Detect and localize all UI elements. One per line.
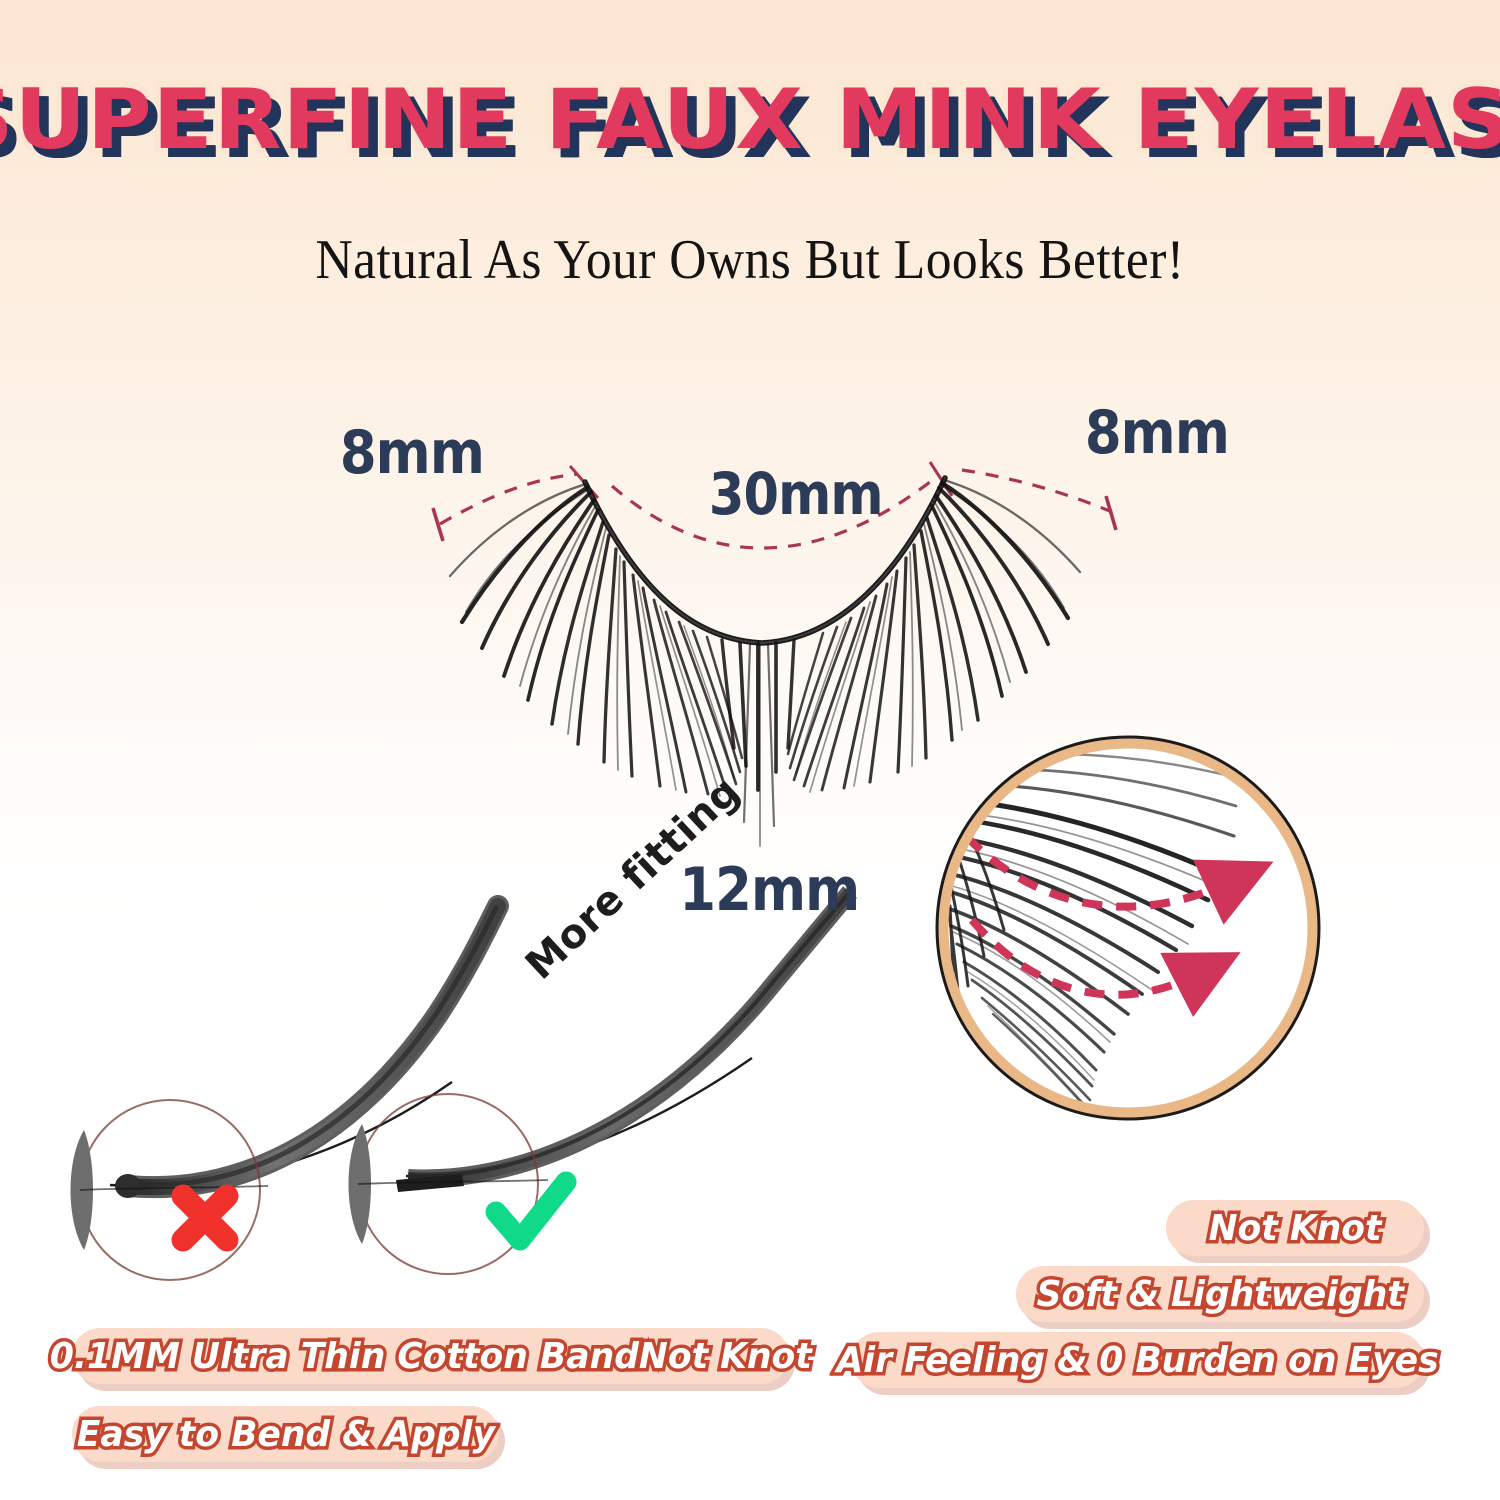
bad-reference-line: [110, 1082, 452, 1186]
badge-air-feeling-label: Air Feeling & 0 Burden on Eyes: [836, 1340, 1438, 1381]
badge-easy-bend-label: Easy to Bend & Apply: [76, 1414, 494, 1455]
badge-soft-lightweight[interactable]: Soft & Lightweight: [1016, 1266, 1424, 1322]
good-reference-line: [406, 1058, 752, 1177]
comparison-good: [349, 892, 851, 1274]
badge-easy-bend[interactable]: Easy to Bend & Apply: [72, 1406, 499, 1462]
x-mark-icon: [183, 1196, 227, 1240]
lash-strip-illustration: [450, 478, 1080, 846]
measure-label-band-length: 30mm: [709, 460, 883, 528]
magnifier-circle: [937, 737, 1319, 1119]
measure-label-lash-length: 12mm: [679, 855, 859, 925]
badge-not-knot-label: Not Knot: [1209, 1208, 1382, 1249]
lash-hairs-left: [450, 484, 742, 796]
measure-label-left-width: 8mm: [340, 418, 484, 488]
right-measure-arc: [962, 470, 1112, 512]
badge-cotton-band[interactable]: 0.1MM Ultra Thin Cotton BandNot Knot: [72, 1328, 789, 1384]
check-mark-icon: [496, 1182, 566, 1240]
right-measure-tick: [1106, 496, 1116, 530]
badge-not-knot[interactable]: Not Knot: [1166, 1200, 1424, 1256]
bad-band-round-end: [115, 1174, 141, 1198]
badge-air-feeling[interactable]: Air Feeling & 0 Burden on Eyes: [851, 1332, 1424, 1388]
comparison-bad: [71, 906, 499, 1280]
badge-soft-lightweight-label: Soft & Lightweight: [1036, 1274, 1403, 1315]
measure-label-right-width: 8mm: [1085, 398, 1229, 468]
badge-cotton-band-label: 0.1MM Ultra Thin Cotton BandNot Knot: [50, 1336, 812, 1377]
infographic-page: SUPERFINE FAUX MINK EYELASHES Natural As…: [0, 0, 1500, 1500]
